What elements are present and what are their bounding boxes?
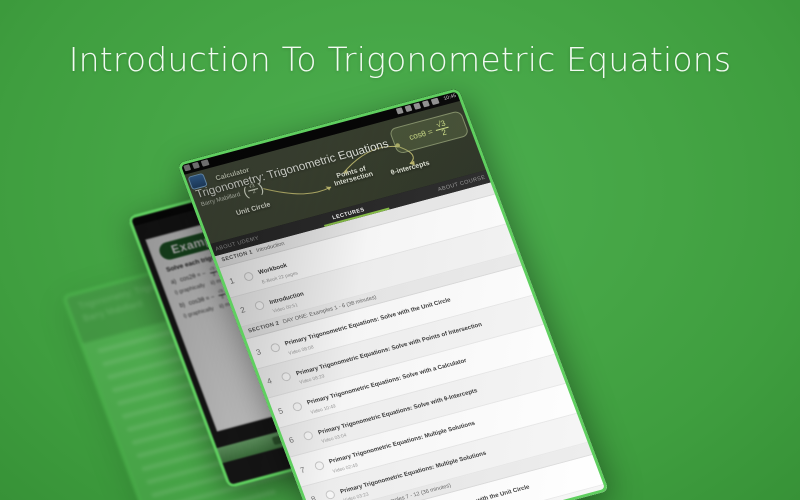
formula-left-side: cosθ =	[408, 127, 434, 142]
fraction-denominator: 2	[252, 190, 257, 196]
item-equation: cos2θ = −	[179, 271, 207, 283]
fraction-denominator: 2	[212, 272, 216, 277]
wifi-icon	[414, 102, 422, 109]
alarm-icon	[405, 104, 413, 111]
item-label: a)	[170, 279, 177, 286]
lecture-texts: Introduction Video 00:51	[266, 282, 309, 314]
fraction-denominator: 2	[221, 295, 225, 300]
item-equation: cos3θ = −	[188, 294, 216, 306]
battery-icon	[431, 97, 440, 104]
status-bar-clock: 10:45	[443, 92, 457, 101]
fraction-denominator: 2	[441, 129, 448, 138]
image-icon	[192, 161, 200, 168]
item-label: b)	[179, 302, 186, 309]
fraction: √3 2	[433, 119, 452, 139]
signal-icon	[422, 100, 430, 107]
camera-icon	[201, 159, 210, 166]
screenshot-icon	[183, 164, 191, 171]
sync-icon	[396, 107, 404, 114]
tablet-stage: Trigonometry: Trigonometric Equations Ba…	[0, 0, 800, 500]
